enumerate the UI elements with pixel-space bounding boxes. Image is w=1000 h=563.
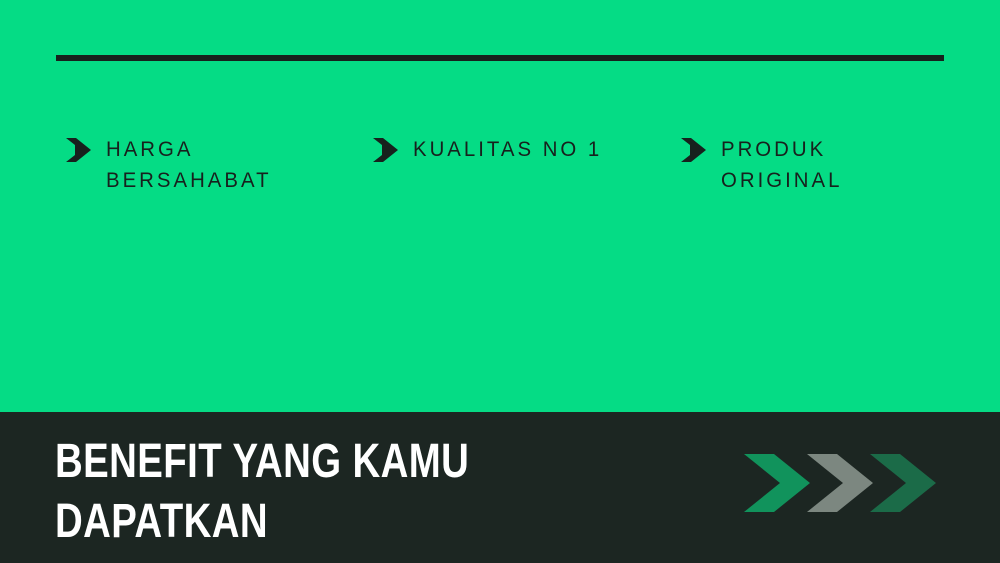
chevron-right-icon [681,135,707,165]
list-item: KUALITAS NO 1 [373,134,673,165]
slide-canvas: HARGA BERSAHABAT KUALITAS NO 1 PRODUK OR… [0,0,1000,563]
benefit-label: KUALITAS NO 1 [413,134,602,165]
top-green-panel: HARGA BERSAHABAT KUALITAS NO 1 PRODUK OR… [0,0,1000,412]
list-item: PRODUK ORIGINAL [681,134,971,196]
chevron-decoration-group [744,454,940,512]
list-item: HARGA BERSAHABAT [66,134,356,196]
page-title: BENEFIT YANG KAMU DAPATKAN [55,432,567,552]
benefit-list: HARGA BERSAHABAT KUALITAS NO 1 PRODUK OR… [0,134,1000,254]
chevron-right-icon [66,135,92,165]
benefit-label: HARGA BERSAHABAT [106,134,272,196]
chevron-decor-3-icon [870,454,948,512]
chevron-right-icon [373,135,399,165]
top-divider-rule [56,55,944,61]
benefit-label: PRODUK ORIGINAL [721,134,842,196]
